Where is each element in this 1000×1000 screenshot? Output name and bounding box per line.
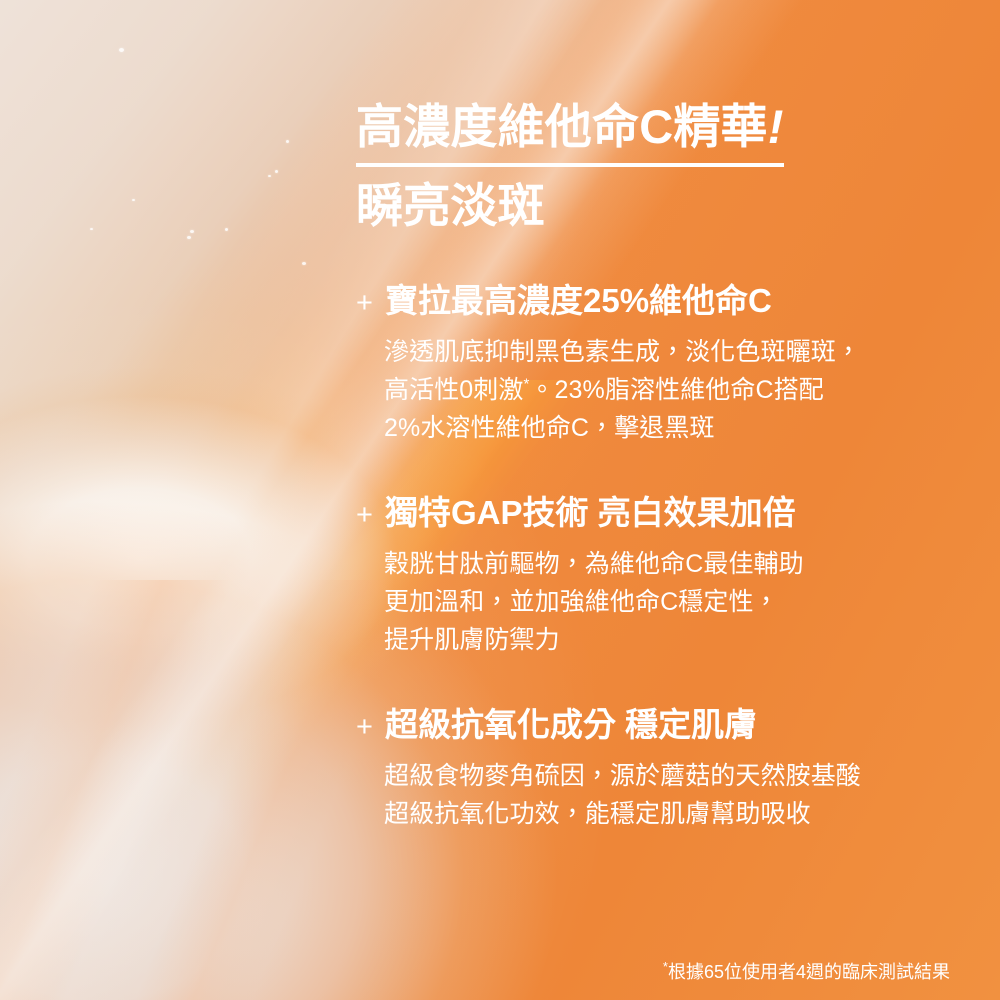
bubble-speck: [190, 230, 194, 233]
feature-1-body-line-2: 高活性0刺激*。23%脂溶性維他命C搭配: [384, 371, 966, 409]
headline-line-1-wrapper: 高濃度維他命C精華!: [356, 96, 956, 167]
footnote: *根據65位使用者4週的臨床測試結果: [663, 960, 950, 985]
feature-spacer: [356, 659, 966, 704]
plus-icon: +: [356, 289, 380, 318]
headline-line-1: 高濃度維他命C精華!: [356, 96, 784, 167]
feature-3-body-line-1: 超級食物麥角硫因，源於蘑菇的天然胺基酸: [384, 757, 966, 795]
product-feature-poster: 高濃度維他命C精華! 瞬亮淡斑 + 寶拉最高濃度25%維他命C 滲透肌底抑制黑色…: [0, 0, 1000, 1000]
feature-2-body-line-3: 提升肌膚防禦力: [384, 621, 966, 659]
plus-icon: +: [356, 713, 380, 742]
feature-item-1: + 寶拉最高濃度25%維他命C 滲透肌底抑制黑色素生成，淡化色斑曬斑， 高活性0…: [356, 280, 966, 447]
feature-1-heading-text: 寶拉最高濃度25%維他命C: [385, 280, 772, 323]
feature-item-3: + 超級抗氧化成分 穩定肌膚 超級食物麥角硫因，源於蘑菇的天然胺基酸 超級抗氧化…: [356, 704, 966, 833]
feature-2-body-line-2: 更加溫和，並加強維他命C穩定性，: [384, 583, 966, 621]
bubble-speck: [132, 199, 135, 201]
feature-3-body-line-2: 超級抗氧化功效，能穩定肌膚幫助吸收: [384, 795, 966, 833]
page-title: 高濃度維他命C精華! 瞬亮淡斑: [356, 96, 956, 236]
footnote-text: 根據65位使用者4週的臨床測試結果: [668, 962, 950, 982]
bubble-speck: [302, 262, 306, 265]
bubble-speck: [119, 48, 124, 52]
headline-line-2: 瞬亮淡斑: [356, 175, 956, 236]
feature-3-heading-text: 超級抗氧化成分 穩定肌膚: [385, 704, 757, 747]
feature-item-2: + 獨特GAP技術 亮白效果加倍 穀胱甘肽前驅物，為維他命C最佳輔助 更加溫和，…: [356, 492, 966, 659]
feature-2-body: 穀胱甘肽前驅物，為維他命C最佳輔助 更加溫和，並加強維他命C穩定性， 提升肌膚防…: [384, 545, 966, 659]
feature-3-body: 超級食物麥角硫因，源於蘑菇的天然胺基酸 超級抗氧化功效，能穩定肌膚幫助吸收: [384, 757, 966, 833]
feature-1-heading: + 寶拉最高濃度25%維他命C: [356, 280, 966, 323]
feature-1-body: 滲透肌底抑制黑色素生成，淡化色斑曬斑， 高活性0刺激*。23%脂溶性維他命C搭配…: [384, 333, 966, 447]
bubble-speck: [90, 228, 93, 230]
feature-1-body-line-3: 2%水溶性維他命C，擊退黑斑: [384, 409, 966, 447]
headline-line-1-text: 高濃度維他命C精華: [356, 100, 768, 153]
content-column: 高濃度維他命C精華! 瞬亮淡斑 + 寶拉最高濃度25%維他命C 滲透肌底抑制黑色…: [356, 0, 966, 1000]
feature-spacer: [356, 447, 966, 492]
feature-1-body-line-2a: 高活性0刺激: [384, 376, 524, 404]
feature-1-body-line-1: 滲透肌底抑制黑色素生成，淡化色斑曬斑，: [384, 333, 966, 371]
headline-exclamation: !: [768, 100, 784, 153]
feature-2-heading: + 獨特GAP技術 亮白效果加倍: [356, 492, 966, 535]
feature-3-heading: + 超級抗氧化成分 穩定肌膚: [356, 704, 966, 747]
bubble-speck: [225, 228, 228, 231]
feature-1-body-line-2b: 。23%脂溶性維他命C搭配: [529, 376, 823, 404]
bubble-speck: [275, 170, 278, 173]
bubble-speck: [187, 236, 191, 239]
plus-icon: +: [356, 501, 380, 530]
feature-2-body-line-1: 穀胱甘肽前驅物，為維他命C最佳輔助: [384, 545, 966, 583]
bubble-speck: [286, 140, 289, 143]
bubble-speck: [268, 175, 271, 177]
feature-list: + 寶拉最高濃度25%維他命C 滲透肌底抑制黑色素生成，淡化色斑曬斑， 高活性0…: [356, 280, 966, 833]
feature-2-heading-text: 獨特GAP技術 亮白效果加倍: [385, 492, 796, 535]
